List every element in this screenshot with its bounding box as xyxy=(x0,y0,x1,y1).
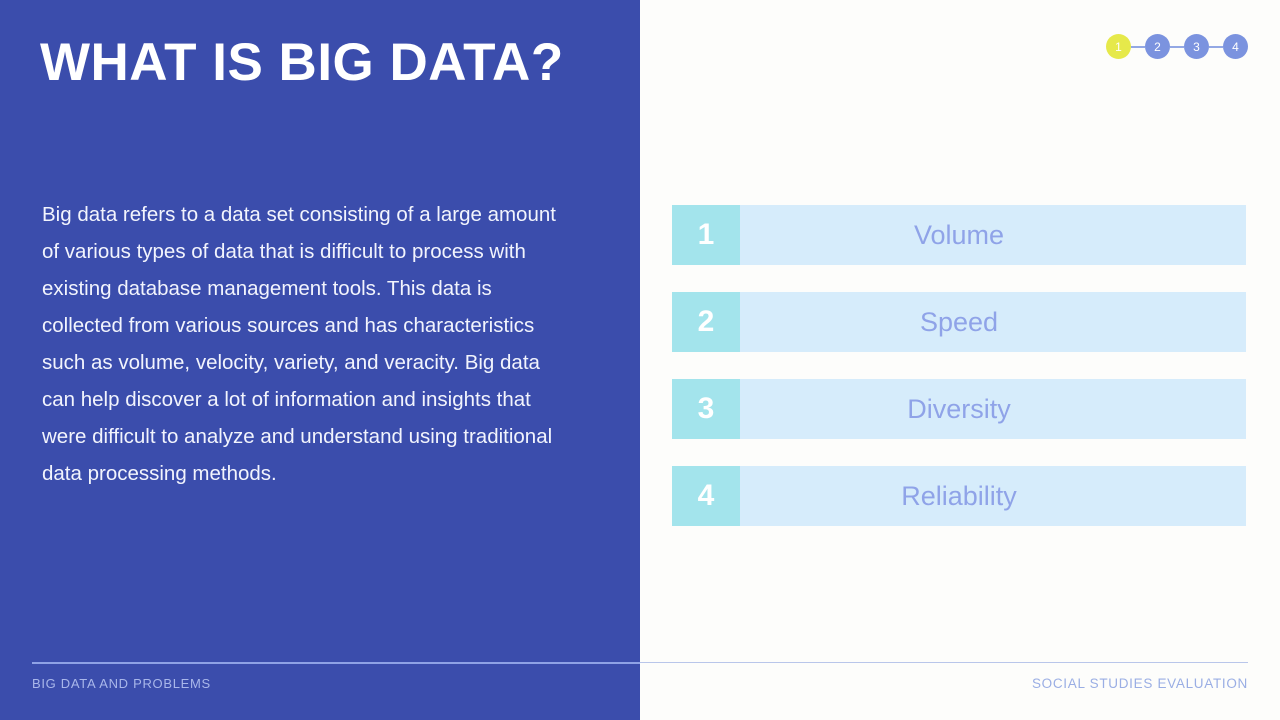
list-item-label: Diversity xyxy=(740,394,1246,425)
step-connector-3 xyxy=(1209,46,1223,48)
list-item[interactable]: 2 Speed xyxy=(672,292,1246,352)
step-dot-1[interactable]: 1 xyxy=(1106,34,1131,59)
slide: WHAT IS BIG DATA? Big data refers to a d… xyxy=(0,0,1280,720)
list-item-label: Volume xyxy=(740,220,1246,251)
list-item-number: 3 xyxy=(672,379,740,439)
list-item[interactable]: 3 Diversity xyxy=(672,379,1246,439)
list-item-label: Reliability xyxy=(740,481,1246,512)
footer-divider-right xyxy=(640,662,1248,663)
list-item-number: 2 xyxy=(672,292,740,352)
list-item-number: 4 xyxy=(672,466,740,526)
footer-right-label: SOCIAL STUDIES EVALUATION xyxy=(1032,676,1248,691)
footer-divider-left xyxy=(32,662,640,664)
left-panel: WHAT IS BIG DATA? Big data refers to a d… xyxy=(0,0,640,720)
list-item[interactable]: 1 Volume xyxy=(672,205,1246,265)
page-title: WHAT IS BIG DATA? xyxy=(40,34,600,91)
step-connector-2 xyxy=(1170,46,1184,48)
body-paragraph: Big data refers to a data set consisting… xyxy=(42,196,572,492)
feature-list: 1 Volume 2 Speed 3 Diversity 4 Reliabili… xyxy=(672,205,1246,526)
list-item-number: 1 xyxy=(672,205,740,265)
step-indicator[interactable]: 1 2 3 4 xyxy=(1106,34,1248,59)
step-dot-2[interactable]: 2 xyxy=(1145,34,1170,59)
step-dot-3[interactable]: 3 xyxy=(1184,34,1209,59)
step-dot-4[interactable]: 4 xyxy=(1223,34,1248,59)
list-item-label: Speed xyxy=(740,307,1246,338)
footer-left-label: BIG DATA AND PROBLEMS xyxy=(32,676,211,691)
list-item[interactable]: 4 Reliability xyxy=(672,466,1246,526)
step-connector-1 xyxy=(1131,46,1145,48)
